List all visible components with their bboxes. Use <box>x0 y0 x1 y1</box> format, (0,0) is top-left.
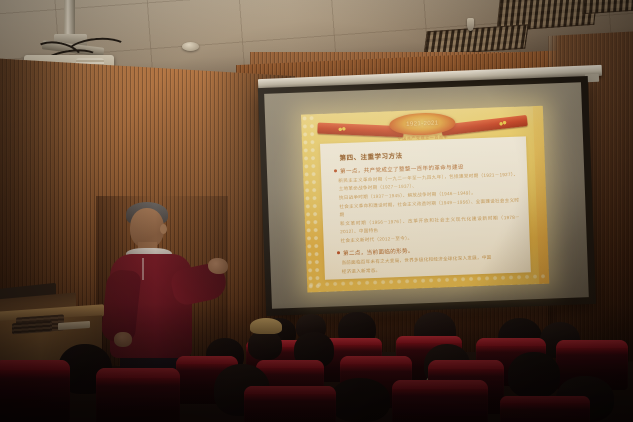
bullet-dot-icon <box>334 169 337 172</box>
audience-head <box>508 352 560 398</box>
slide-content-card: 第四、注重学习方法 第一点，共产党成立了整整一百年的革命与建设 新民主主义革命时… <box>320 136 531 279</box>
party-emblem-icon <box>337 125 346 132</box>
seat[interactable] <box>96 368 180 422</box>
presentation-slide: 1921-2021 中国共产党成立一百周年 第四、注重学习方法 第一点，共产党成… <box>301 106 549 293</box>
seat-headrest <box>500 396 590 403</box>
seat-headrest <box>396 336 462 343</box>
screen-surface: 1921-2021 中国共产党成立一百周年 第四、注重学习方法 第一点，共产党成… <box>264 82 589 308</box>
presenter-hand-left <box>114 332 132 347</box>
seat-headrest <box>556 340 628 348</box>
presenter-ear <box>160 224 167 234</box>
projection-screen: 1921-2021 中国共产党成立一百周年 第四、注重学习方法 第一点，共产党成… <box>258 76 596 316</box>
slide-bullet-text: 第二点，当前面临的形势。 <box>343 247 414 258</box>
presenter-hand-right <box>208 258 228 274</box>
seat-headrest <box>340 356 412 364</box>
audience-head <box>330 378 390 422</box>
seat-headrest <box>476 338 546 346</box>
seat-headrest <box>176 356 238 364</box>
smoke-detector-icon <box>182 42 199 51</box>
audience-head <box>248 330 282 360</box>
lecture-hall-photo: 1921-2021 中国共产党成立一百周年 第四、注重学习方法 第一点，共产党成… <box>0 0 633 422</box>
seat[interactable] <box>500 396 590 422</box>
projector-pole <box>64 0 75 38</box>
banner-medallion-text: 1921-2021 <box>406 121 438 128</box>
sprinkler-icon <box>467 18 474 31</box>
presenter-zipper <box>142 258 144 280</box>
seat-headrest <box>256 360 324 368</box>
seat-headrest <box>0 360 70 370</box>
party-emblem-icon <box>498 119 508 127</box>
seat-headrest <box>244 386 336 394</box>
bullet-dot-icon <box>337 251 340 254</box>
seat-headrest <box>392 380 488 389</box>
seat-headrest <box>428 360 504 369</box>
seat[interactable] <box>392 380 488 422</box>
slide-title: 第四、注重学习方法 <box>339 146 517 163</box>
seat[interactable] <box>244 386 336 422</box>
seat-headrest <box>96 368 180 378</box>
seat[interactable] <box>0 360 70 422</box>
audience-hat <box>250 318 282 334</box>
